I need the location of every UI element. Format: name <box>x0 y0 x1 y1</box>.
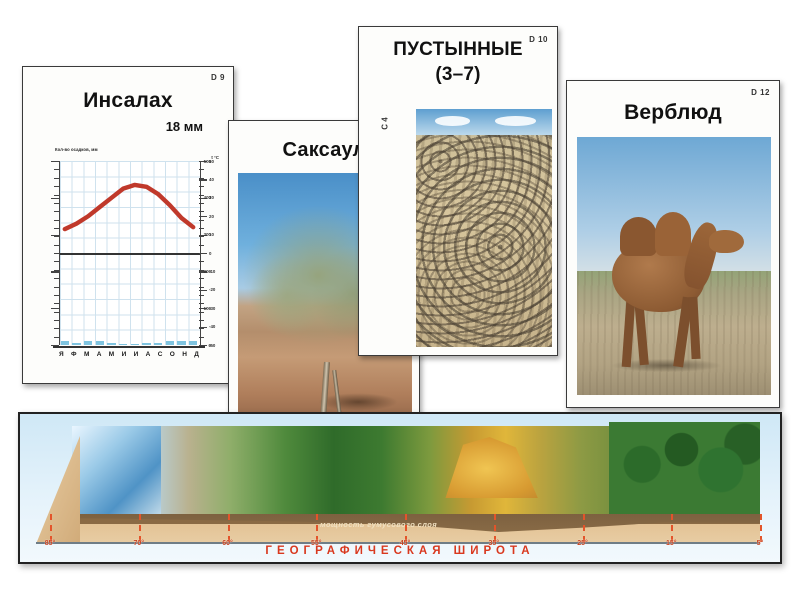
panorama-caption: ГЕОГРАФИЧЕСКАЯ ШИРОТА <box>20 545 780 557</box>
axis-tick-label: -50 <box>209 343 229 348</box>
axis-tick-label: 0 <box>209 251 229 256</box>
axis-minor-tick <box>199 295 204 296</box>
page-title-insalah: Инсалах <box>23 89 233 113</box>
camel-hump <box>620 217 657 256</box>
month-label-4: М <box>109 351 114 358</box>
month-label-8: С <box>158 351 163 358</box>
latitude-tick <box>494 514 496 542</box>
axis-tick-label: 20 <box>209 214 229 219</box>
precipitation-bar <box>154 343 162 345</box>
month-label-7: А <box>146 351 151 358</box>
axis-minor-tick <box>199 320 204 321</box>
gravel-desert-photo <box>416 109 552 347</box>
x-axis-month-labels: ЯФМАМИИАСОНД <box>59 351 199 358</box>
axis-minor-tick <box>199 261 204 262</box>
latitude-soil-panorama[interactable]: мощность гумусового слоя 85°70°60°55°45°… <box>18 412 782 564</box>
axis-tick-label: 200 <box>189 269 211 274</box>
tree-shadow <box>318 393 398 411</box>
precipitation-bar <box>84 341 92 345</box>
latitude-tick <box>583 514 585 542</box>
axis-tick-label: 10 <box>209 232 229 237</box>
axis-minor-tick <box>199 186 204 187</box>
axis-minor-tick <box>199 253 204 254</box>
insalah-precip-total: 18 мм <box>166 119 203 134</box>
axis-tick-label: 0 <box>189 343 211 348</box>
latitude-tick <box>139 514 141 542</box>
precipitation-bars <box>59 341 199 345</box>
cloud-icon <box>435 116 470 126</box>
precipitation-bar <box>107 343 115 345</box>
card-desert[interactable]: D 10 ПУСТЫННЫЕ (3–7) C 4 <box>358 26 558 356</box>
slide-canvas: D 9 Инсалах 18 мм Кол-во осадков, мм t °… <box>0 0 800 600</box>
tropical-forest-zone <box>609 422 760 514</box>
month-label-2: М <box>84 351 89 358</box>
axis-tick <box>51 271 59 272</box>
camel-photo <box>577 137 771 395</box>
precipitation-bar <box>177 341 185 345</box>
month-label-3: А <box>97 351 102 358</box>
latitude-tick <box>50 514 52 542</box>
axis-tick <box>199 290 207 291</box>
soil-block-left-face <box>36 436 80 544</box>
card-side-code-desert: C 4 <box>381 117 390 129</box>
axis-tick <box>199 179 207 180</box>
humus-layer <box>72 514 760 544</box>
axis-minor-tick <box>199 278 204 279</box>
axis-minor-tick <box>199 169 204 170</box>
axis-tick <box>51 308 59 309</box>
camel-head <box>709 230 744 253</box>
camel-hump <box>655 212 692 256</box>
axis-minor-tick <box>199 287 204 288</box>
polar-ice-zone <box>72 426 161 514</box>
precipitation-bar <box>166 341 174 345</box>
desert-title-main: ПУСТЫННЫЕ <box>359 37 557 62</box>
humus-layer-label: мощность гумусового слоя <box>320 520 437 529</box>
month-label-0: Я <box>59 351 64 358</box>
climatogram-chart: Кол-во осадков, мм t °C ЯФМАМИИАСОНД 500… <box>33 145 225 375</box>
axis-tick-label: 40 <box>209 177 229 182</box>
card-code-insalah: D 9 <box>211 73 225 82</box>
precipitation-bar <box>119 344 127 345</box>
month-label-1: Ф <box>71 351 77 358</box>
card-code-camel: D 12 <box>751 88 770 97</box>
axis-tick-label: 30 <box>209 195 229 200</box>
desert-dunes-zone <box>437 433 547 498</box>
soil-cross-section <box>72 514 760 544</box>
y-axis-label-left: Кол-во осадков, мм <box>55 147 115 153</box>
precipitation-bar <box>61 341 69 345</box>
card-insalah[interactable]: D 9 Инсалах 18 мм Кол-во осадков, мм t °… <box>22 66 234 384</box>
month-label-10: Н <box>182 351 187 358</box>
axis-minor-tick <box>199 228 204 229</box>
axis-tick <box>51 198 59 199</box>
axis-tick-label: 100 <box>189 306 211 311</box>
y-axis-left-ticks <box>47 161 59 345</box>
latitude-tick <box>760 514 762 542</box>
axis-tick-label: -20 <box>209 287 229 292</box>
axis-tick-label: 50 <box>209 159 229 164</box>
axis-tick-label: -10 <box>209 269 229 274</box>
axis-minor-tick <box>199 220 204 221</box>
axis-minor-tick <box>199 328 204 329</box>
month-label-6: И <box>134 351 139 358</box>
month-label-9: О <box>170 351 175 358</box>
desert-title-range: (3–7) <box>359 62 557 87</box>
axis-minor-tick <box>199 178 204 179</box>
biome-strip <box>72 426 760 514</box>
latitude-tick <box>228 514 230 542</box>
latitude-tick <box>316 514 318 542</box>
axis-minor-tick <box>199 203 204 204</box>
card-camel[interactable]: D 12 Верблюд <box>566 80 780 408</box>
precipitation-bar <box>131 344 139 345</box>
cloud-icon <box>495 116 536 126</box>
axis-minor-tick <box>199 245 204 246</box>
axis-minor-tick <box>199 312 204 313</box>
axis-tick-label: -40 <box>209 324 229 329</box>
precipitation-bar <box>96 341 104 345</box>
axis-tick-label: 500 <box>189 159 211 164</box>
temperature-curve <box>59 161 199 345</box>
month-label-5: И <box>122 351 127 358</box>
month-label-11: Д <box>194 351 199 358</box>
axis-minor-tick <box>199 211 204 212</box>
axis-tick-label: -30 <box>209 306 229 311</box>
axis-tick-label: 400 <box>189 195 211 200</box>
latitude-tick <box>671 514 673 542</box>
page-title-camel: Верблюд <box>567 101 779 125</box>
axis-tick-label: 300 <box>189 232 211 237</box>
precipitation-bar <box>142 343 150 345</box>
latitude-axis-line <box>36 542 760 544</box>
axis-tick <box>199 216 207 217</box>
precipitation-bar <box>72 343 80 345</box>
latitude-tick <box>405 514 407 542</box>
axis-minor-tick <box>199 337 204 338</box>
axis-minor-tick <box>199 303 204 304</box>
chart-baseline <box>53 346 205 348</box>
page-title-desert: ПУСТЫННЫЕ (3–7) <box>359 37 557 87</box>
